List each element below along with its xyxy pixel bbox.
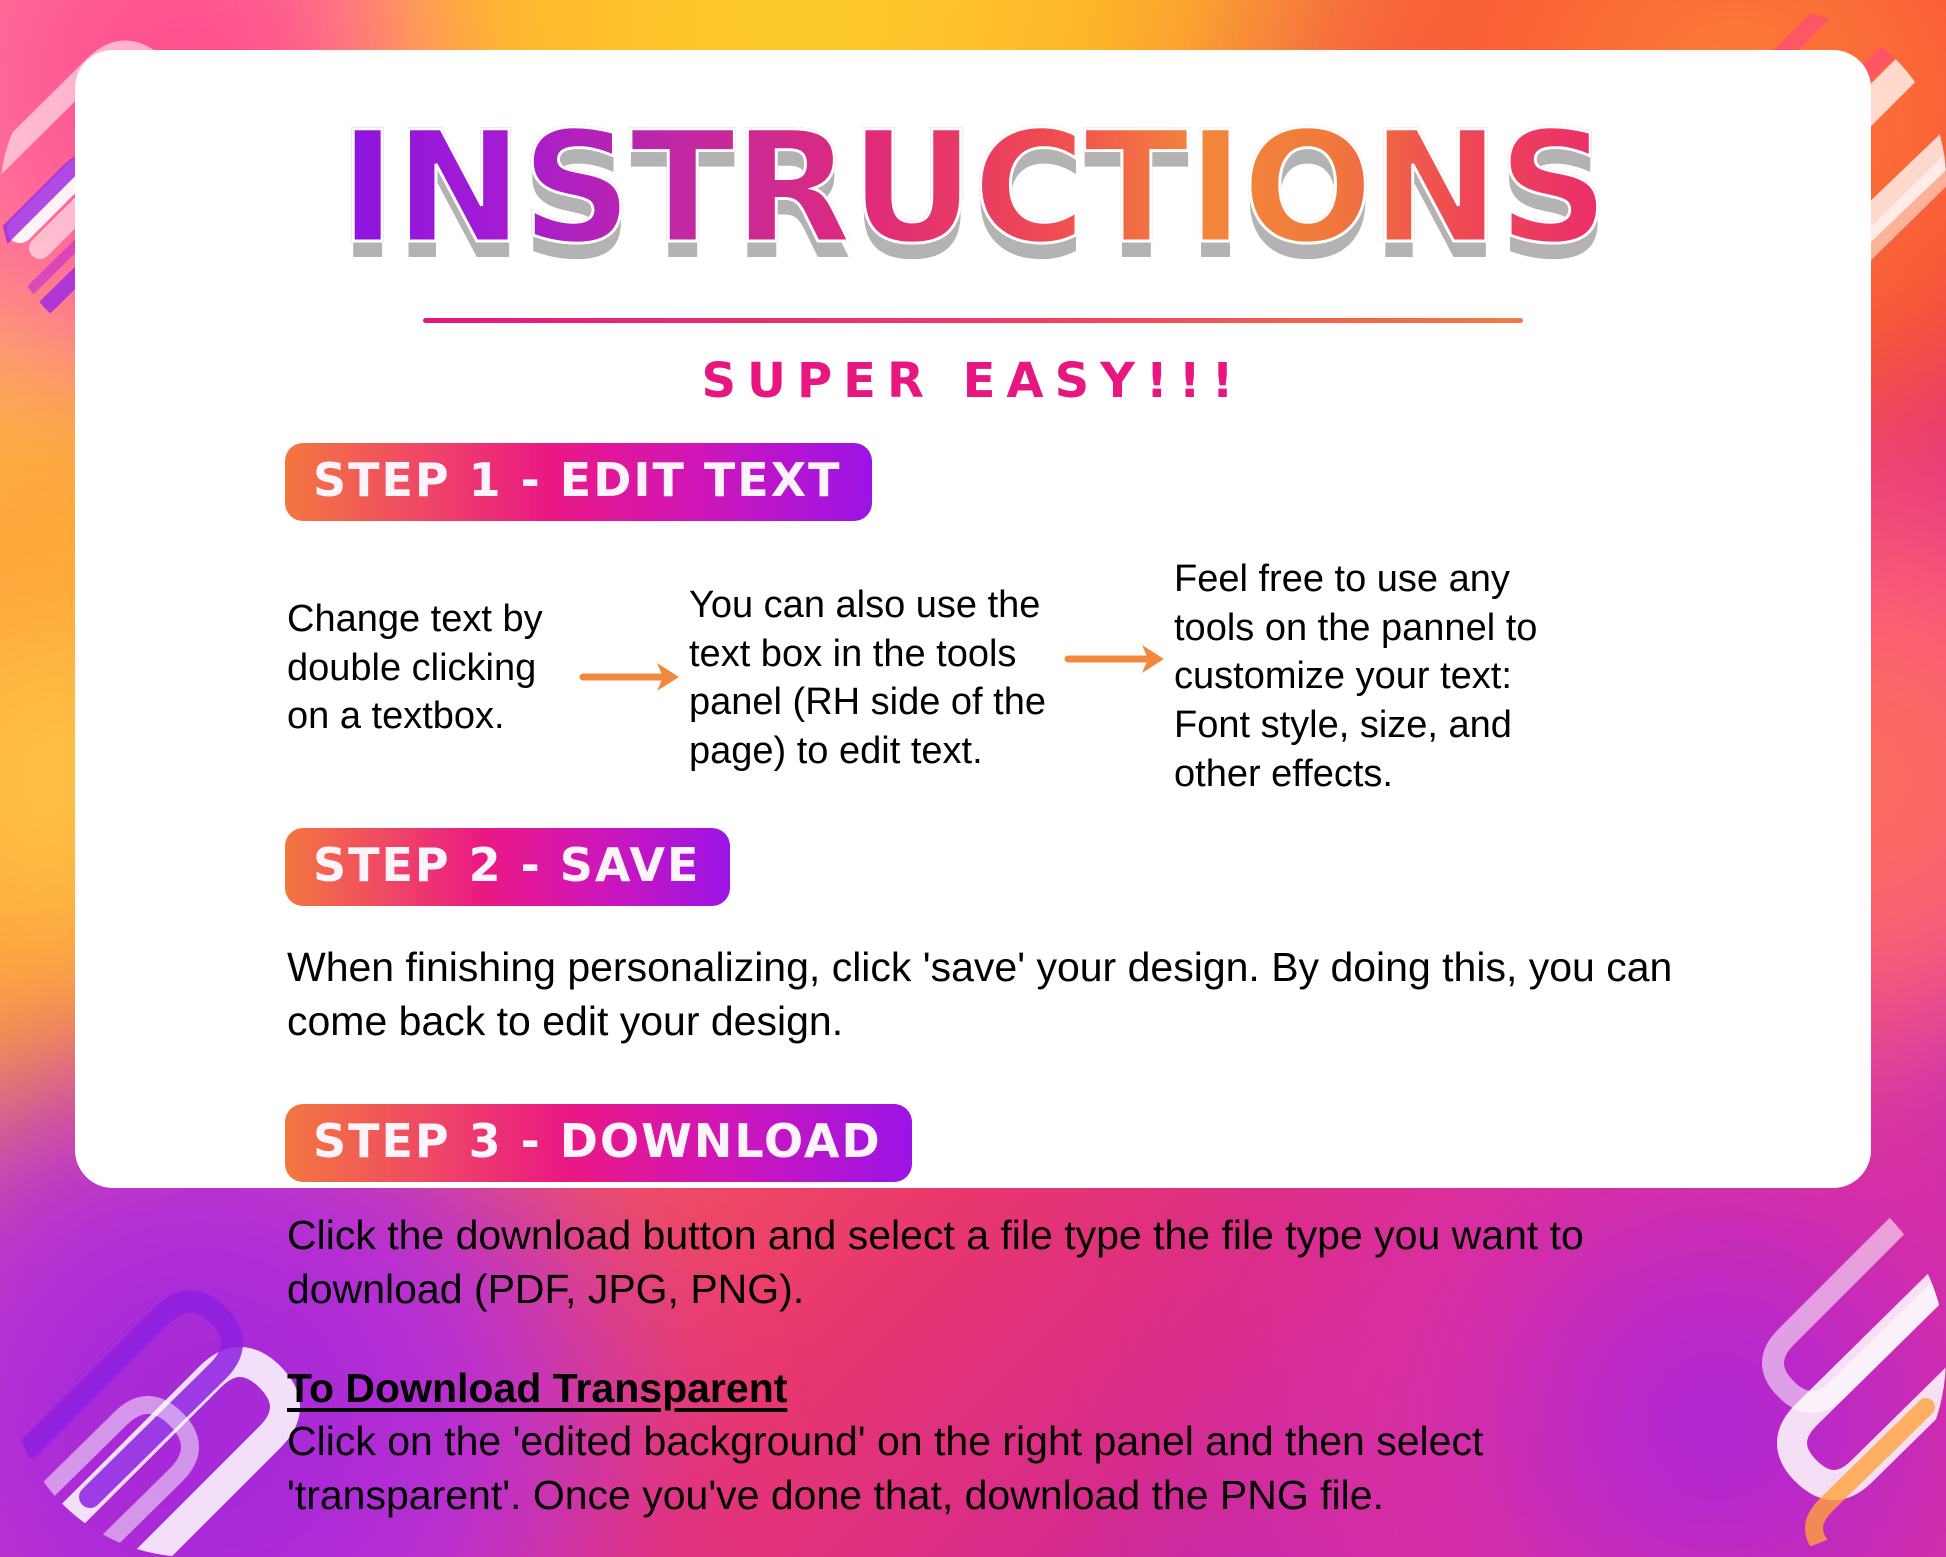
title-divider xyxy=(423,318,1523,323)
step-1-column-1: Change text by double clicking on a text… xyxy=(287,547,579,741)
step-1-badge[interactable]: STEP 1 - EDIT TEXT xyxy=(285,443,872,521)
step-2-body: When finishing personalizing, click 'sav… xyxy=(287,940,1717,1048)
step-1-badge-row: STEP 1 - EDIT TEXT xyxy=(285,443,1871,521)
step-3-badge[interactable]: STEP 3 - DOWNLOAD xyxy=(285,1104,912,1182)
instruction-card: INSTRUCTIONS INSTRUCTIONS SUPER EASY!!! … xyxy=(75,50,1871,1188)
page-title: INSTRUCTIONS INSTRUCTIONS xyxy=(75,112,1871,266)
steps-container: STEP 1 - EDIT TEXT Change text by double… xyxy=(75,443,1871,1522)
spacer-before-step-2 xyxy=(75,798,1871,828)
step-1-columns: Change text by double clicking on a text… xyxy=(287,547,1871,798)
transparent-download-heading: To Download Transparent xyxy=(287,1365,787,1412)
step-1-column-3: Feel free to use any tools on the pannel… xyxy=(1174,547,1594,798)
arrow-right-icon xyxy=(579,657,689,697)
step-3-body: Click the download button and select a f… xyxy=(287,1208,1717,1316)
step-3-badge-row: STEP 3 - DOWNLOAD xyxy=(285,1104,1871,1182)
transparent-download-body: Click on the 'edited background' on the … xyxy=(287,1414,1717,1522)
step-2-badge-row: STEP 2 - SAVE xyxy=(285,828,1871,906)
subtitle: SUPER EASY!!! xyxy=(75,353,1871,409)
step-2-badge[interactable]: STEP 2 - SAVE xyxy=(285,828,730,906)
step-1-column-2: You can also use the text box in the too… xyxy=(689,547,1064,776)
title-block: INSTRUCTIONS INSTRUCTIONS xyxy=(75,112,1871,312)
page-title-text: INSTRUCTIONS xyxy=(339,99,1607,278)
spacer-before-step-3 xyxy=(75,1048,1871,1104)
arrow-right-icon-2 xyxy=(1064,639,1174,679)
poster-canvas: INSTRUCTIONS INSTRUCTIONS SUPER EASY!!! … xyxy=(0,0,1946,1557)
